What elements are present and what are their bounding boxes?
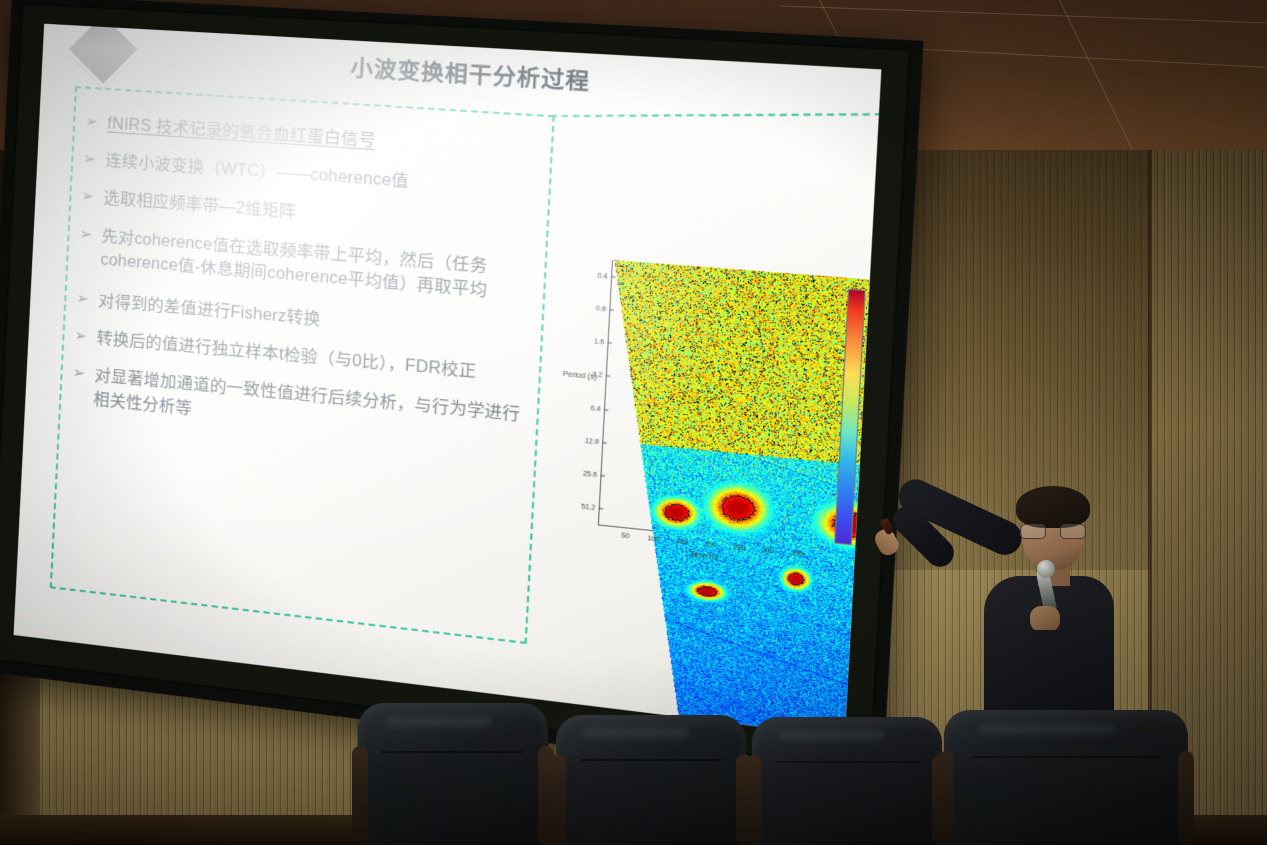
chart-x-tick-mark bbox=[783, 273, 784, 277]
chart-colorbar-tick: 0.5 bbox=[861, 413, 872, 422]
microphone-head-icon bbox=[1037, 560, 1055, 578]
auditorium-chair bbox=[752, 717, 942, 845]
chart-x-tick: 300 bbox=[762, 547, 775, 556]
projection-screen: 小波变换相干分析过程 ➢ fNIRS 技术记录的氧合血红蛋白信号 ➢ 连续小波变… bbox=[0, 0, 924, 786]
auditorium-chair bbox=[944, 710, 1188, 845]
chart-x-tick-mark bbox=[725, 268, 726, 272]
chart-y-tick: 51.2 bbox=[581, 503, 596, 512]
chart-x-tick-mark bbox=[668, 264, 669, 268]
chart-y-tick: 25.6 bbox=[583, 470, 598, 479]
slide-content-border-extension bbox=[550, 113, 881, 117]
glasses-icon bbox=[1020, 524, 1086, 537]
wristwatch-icon bbox=[1032, 630, 1058, 638]
chart-x-tick: 200 bbox=[704, 541, 717, 550]
presenter-mic-hand bbox=[1030, 606, 1060, 632]
presenter-arm bbox=[893, 474, 1027, 561]
wavelet-coherence-figure: Period (s) 0.40.81.63.26.412.825.651.2 5… bbox=[532, 242, 882, 630]
slide-surface: 小波变换相干分析过程 ➢ fNIRS 技术记录的氧合血红蛋白信号 ➢ 连续小波变… bbox=[14, 24, 882, 737]
chart-y-tick: 0.4 bbox=[597, 272, 608, 280]
chart-colorbar-tick: 0.2 bbox=[856, 497, 867, 506]
chart-y-tick: 1.6 bbox=[594, 338, 605, 346]
bullet-arrow-icon: ➢ bbox=[76, 289, 99, 311]
chart-colorbar-tick: 0.1 bbox=[855, 525, 866, 534]
presenter-hair bbox=[1016, 486, 1090, 528]
chart-x-tick-mark bbox=[640, 262, 641, 266]
chart-x-tick: 50 bbox=[621, 532, 630, 540]
chart-colorbar-tick: 0.4 bbox=[859, 441, 870, 450]
chart-y-tick: 6.4 bbox=[590, 404, 601, 412]
chart-colorbar-tick: 0.6 bbox=[862, 385, 873, 394]
auditorium-chair bbox=[358, 703, 548, 845]
bullet-arrow-icon: ➢ bbox=[85, 112, 108, 134]
list-item-label: 对得到的差值进行Fisherz转换 bbox=[98, 290, 321, 332]
presenter-forearm bbox=[888, 500, 960, 572]
chart-y-tick: 12.8 bbox=[585, 437, 600, 446]
chart-colorbar-tick: 0.3 bbox=[858, 469, 869, 478]
chart-colorbar-tick: 0.9 bbox=[867, 301, 878, 309]
chart-colorbar-tick: 0.7 bbox=[864, 357, 875, 366]
chart-y-axis-label: Period (s) bbox=[539, 369, 597, 383]
chart-y-tick: 3.2 bbox=[592, 371, 603, 379]
bullet-list: ➢ fNIRS 技术记录的氧合血红蛋白信号 ➢ 连续小波变换（WTC）——coh… bbox=[70, 111, 538, 468]
chart-y-tick: 0.8 bbox=[596, 305, 607, 313]
screen-bezel: 小波变换相干分析过程 ➢ fNIRS 技术记录的氧合血红蛋白信号 ➢ 连续小波变… bbox=[0, 3, 911, 772]
chart-x-tick-mark bbox=[754, 271, 755, 275]
chart-colorbar-tick: 0.8 bbox=[866, 329, 877, 338]
bullet-arrow-icon: ➢ bbox=[72, 363, 95, 385]
list-item-label: 选取相应频率带—2维矩阵 bbox=[103, 187, 296, 225]
list-item-label: 连续小波变换（WTC）——coherence值 bbox=[105, 150, 409, 195]
chart-x-tick: 150 bbox=[676, 538, 689, 547]
auditorium-chair bbox=[556, 715, 746, 845]
photo-scene: 小波变换相干分析过程 ➢ fNIRS 技术记录的氧合血红蛋白信号 ➢ 连续小波变… bbox=[0, 0, 1267, 845]
chart-x-tick: 100 bbox=[647, 535, 660, 544]
bullet-arrow-icon: ➢ bbox=[81, 187, 104, 209]
bullet-arrow-icon: ➢ bbox=[74, 326, 97, 348]
chart-x-tick-mark bbox=[697, 266, 698, 270]
chart-x-tick-mark bbox=[812, 275, 813, 279]
chart-plot-area: 0.40.81.63.26.412.825.651.2 501001502002… bbox=[598, 260, 830, 548]
bullet-arrow-icon: ➢ bbox=[83, 149, 106, 171]
chart-x-tick: 250 bbox=[733, 544, 746, 553]
page-title: 小波变换相干分析过程 bbox=[350, 51, 704, 103]
chart-y-tick-mark bbox=[611, 276, 616, 277]
diamond-logo-icon bbox=[69, 24, 137, 84]
chart-colorbar-ticks: 0.90.80.70.60.50.40.30.20.1 bbox=[550, 242, 881, 269]
bullet-arrow-icon: ➢ bbox=[79, 224, 102, 246]
chart-x-tick: 350 bbox=[791, 550, 804, 559]
